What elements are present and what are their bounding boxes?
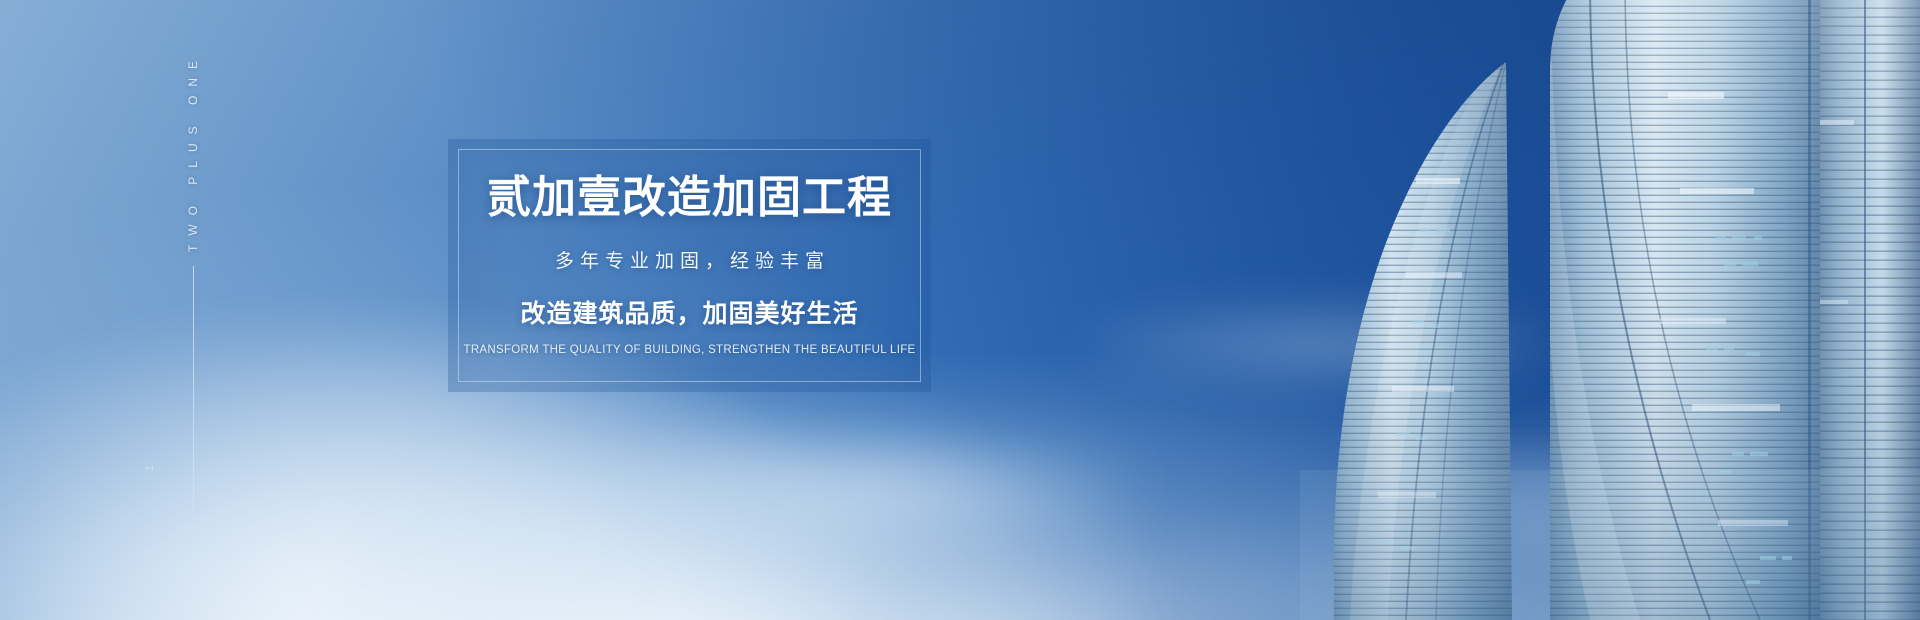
headline-slogan-cn: 改造建筑品质，加固美好生活 (448, 294, 931, 330)
headline-panel: 贰加壹改造加固工程 多年专业加固，经验丰富 改造建筑品质，加固美好生活 TRAN… (448, 139, 931, 392)
sky-vignette (0, 0, 1920, 620)
cloud-wisp-3 (1400, 415, 1920, 575)
cloud-wisp-1 (620, 430, 1140, 550)
headline-title: 贰加壹改造加固工程 (448, 173, 931, 222)
cloud-wisp-4 (1180, 480, 1920, 620)
headline-slogan-en: TRANSFORM THE QUALITY OF BUILDING, STREN… (448, 344, 931, 356)
film-grain-overlay (0, 0, 1920, 620)
cloud-wisp-2 (1080, 300, 1560, 390)
brand-vertical-rail: TWO PLUS ONE 1 (178, 52, 208, 512)
hero-banner: TWO PLUS ONE 1 贰加壹改造加固工程 多年专业加固，经验丰富 改造建… (0, 0, 1920, 620)
cloud-mid (330, 430, 1150, 620)
brand-vertical-divider (193, 266, 194, 512)
tower-left (1320, 40, 1530, 620)
tower-right (1540, 0, 1840, 620)
skyscraper-illustration (1120, 0, 1920, 620)
slide-index-label: 1 (144, 464, 156, 471)
headline-content: 贰加壹改造加固工程 多年专业加固，经验丰富 改造建筑品质，加固美好生活 TRAN… (448, 173, 931, 356)
headline-subtitle: 多年专业加固，经验丰富 (448, 246, 931, 273)
tower-far-right (1810, 0, 1920, 620)
brand-vertical-text: TWO PLUS ONE (186, 52, 200, 252)
